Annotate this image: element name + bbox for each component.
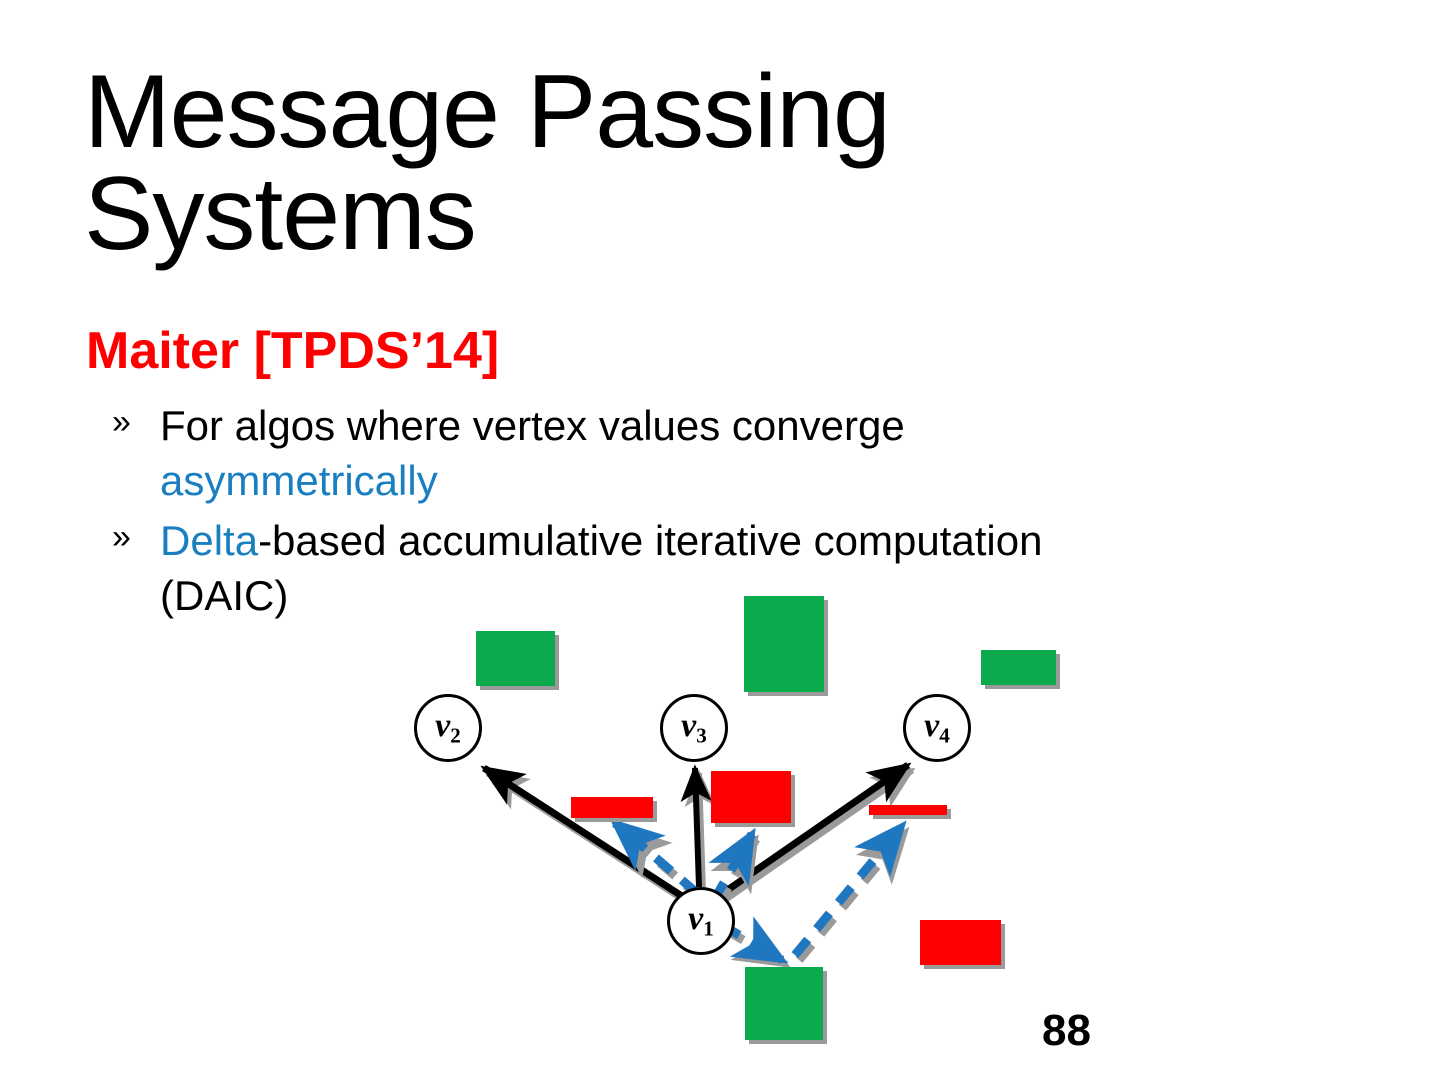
bar-red-bottom: [920, 920, 1001, 965]
msg-to-red-right-shadow: [799, 831, 906, 960]
msg-v1-to-green-bottom-shadow: [726, 930, 786, 965]
bar-fill-red: [711, 771, 791, 823]
list-item: » For algos where vertex values converge…: [112, 398, 1422, 509]
edge-v1-v3-shadow: [699, 773, 703, 892]
graph-node-v2[interactable]: v2: [414, 694, 482, 762]
subtitle-maiter-citation: Maiter [TPDS’14]: [86, 325, 499, 377]
dashed-message-edges: [615, 823, 902, 960]
bullet-list: » For algos where vertex values converge…: [112, 398, 1422, 624]
node-label-v2: v2: [435, 709, 461, 747]
bullet-marker-icon: »: [112, 515, 131, 560]
msg-to-red-right: [795, 826, 902, 955]
bar-green-bottom: [745, 967, 823, 1040]
bullet-2-lead-highlight: Delta: [160, 517, 258, 564]
graph-node-v1[interactable]: v1: [667, 887, 735, 955]
msg-v1-to-red-left-shadow: [619, 828, 701, 898]
title-line-1: Message Passing: [84, 62, 1084, 164]
subtitle-text: Maiter [TPDS’14]: [86, 322, 499, 380]
node-label-v4: v4: [924, 709, 950, 747]
title-line-2: Systems: [84, 164, 1084, 266]
bar-fill-red: [571, 797, 653, 818]
page-number: 88: [1042, 1006, 1091, 1056]
bar-fill-red: [869, 805, 947, 815]
bar-fill-green: [744, 596, 824, 692]
solid-edges: [484, 765, 908, 900]
bar-red-center: [711, 771, 791, 823]
msg-v1-to-red-left: [615, 823, 697, 893]
node-label-v3: v3: [681, 709, 707, 747]
bullet-marker-icon: »: [112, 400, 131, 445]
edge-v1-v2-shadow: [488, 773, 692, 905]
bar-fill-red: [920, 920, 1001, 965]
msg-v1-to-red-center: [714, 834, 752, 900]
bar-red-right: [869, 805, 947, 815]
bullet-1-line-1: For algos where vertex values converge: [160, 398, 1422, 453]
page-title: Message Passing Systems: [84, 62, 1084, 266]
bar-fill-green: [981, 650, 1056, 685]
bullet-1-line-2-highlight: asymmetrically: [160, 453, 1422, 508]
bar-green-v4: [981, 650, 1056, 685]
bar-green-v3: [744, 596, 824, 692]
bar-green-v2: [476, 631, 555, 686]
graph-node-v3[interactable]: v3: [660, 694, 728, 762]
graph-node-v4[interactable]: v4: [903, 694, 971, 762]
solid-edge-shadows: [488, 770, 912, 905]
bullet-2-line-1: -based accumulative iterative computatio…: [258, 517, 1042, 564]
bar-fill-green: [476, 631, 555, 686]
slide-canvas: Message Passing Systems Maiter [TPDS’14]…: [0, 0, 1440, 1080]
dashed-edge-shadows: [619, 828, 906, 965]
edge-v1-v3: [695, 768, 699, 887]
bar-fill-green: [745, 967, 823, 1040]
node-label-v1: v1: [688, 902, 714, 940]
edge-v1-v2: [484, 768, 688, 900]
bar-red-left: [571, 797, 653, 818]
